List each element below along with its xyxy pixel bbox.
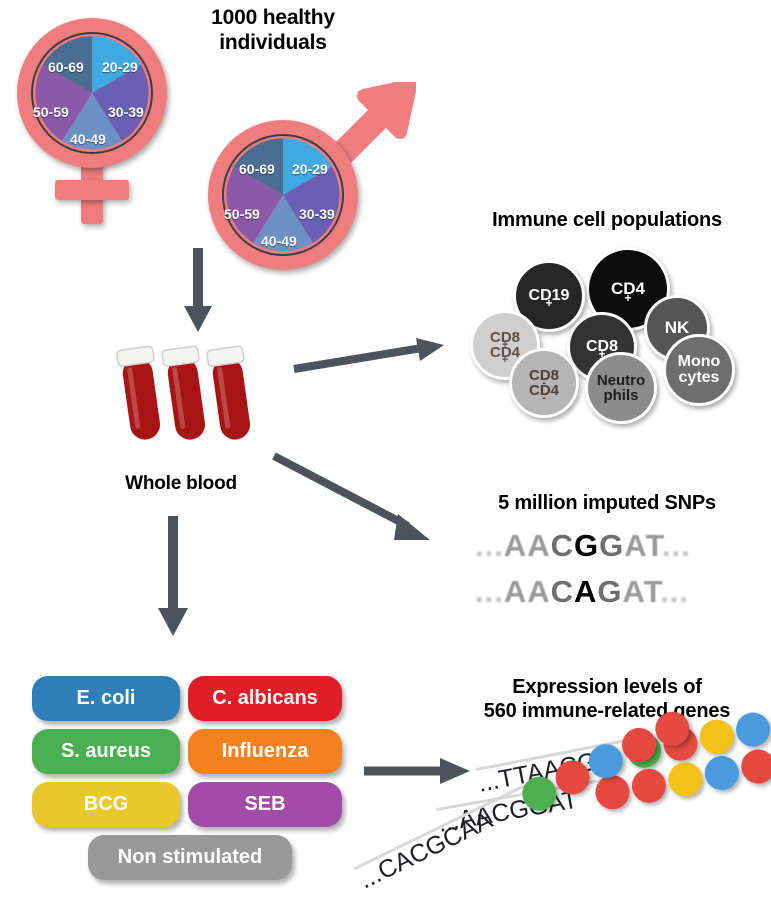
stimulus-pill-e-coli[interactable]: E. coli [32,676,180,721]
immune-cell-label: NK [665,319,690,336]
immune-cell-nk: NK [644,295,710,361]
female-slice-label-20-29: 20-29 [102,59,138,75]
snp-lead-bases: AA [504,574,551,609]
male-gender-symbol: 20-29 30-39 40-49 50-59 60-69 [202,82,422,262]
immune-cell-cd8-cd4: CD8-CD4- [509,348,579,418]
strand-bead [666,760,705,799]
male-slice-label-30-39: 30-39 [299,206,335,222]
gene-strands: ...TTAACGG...AACGGAT...CACGCAA [430,740,771,920]
female-gender-symbol: 20-29 30-39 40-49 50-59 60-69 [8,12,188,227]
snps-title: 5 million imputed SNPs [452,492,762,516]
snp-sequences: ...AACGGAT......AACAGAT... [475,528,745,618]
snp-lead-bases: C [551,528,574,563]
immune-cell-cd8: CD8+ [567,312,637,382]
stimulus-pill-label: S. aureus [61,740,151,763]
snp-tail-bases: G [597,574,622,609]
immune-cell-cd19: CD19+ [513,260,585,332]
snp-prefix-ellipsis: ... [475,574,504,609]
male-slice-label-60-69: 60-69 [239,161,275,177]
female-slice-label-50-59: 50-59 [33,104,69,120]
snp-tail-bases: AT [623,574,661,609]
strand-bead [739,747,771,786]
stimulus-pill-label: Influenza [222,740,309,763]
immune-cell-label: CD8-CD4- [529,368,559,399]
stimulus-pill-label: C. albicans [212,687,318,710]
snp-sequence-row: ...AACGGAT... [475,528,691,564]
stimulus-pill-label: SEB [244,793,285,816]
male-slice-label-40-49: 40-49 [261,233,297,249]
snp-sequence-row: ...AACAGAT... [475,574,689,610]
snp-lead-bases: C [551,574,574,609]
immune-cell-cd8-cd4: CD8+CD4+ [470,310,540,380]
female-slice-label-30-39: 30-39 [108,104,144,120]
snp-lead-bases: AA [504,528,551,563]
snp-variant-base: G [574,528,599,563]
expression-title-line1: Expression levels of [446,676,768,700]
blood-tubes [110,340,260,450]
whole-blood-label: Whole blood [86,473,276,495]
arrow-blood-to-immune [292,338,452,378]
female-slice-label-60-69: 60-69 [48,59,84,75]
stimulus-pill-seb[interactable]: SEB [188,782,342,827]
cohort-title-line2: individuals [178,31,368,56]
immune-cell-neutrophils: Neutrophils [585,352,657,424]
arrow-cohort-to-blood [178,248,218,334]
immune-cell-label: Monocytes [678,354,721,387]
snp-variant-base: A [574,574,597,609]
stimulus-pill-non-stimulated[interactable]: Non stimulated [88,835,292,880]
snp-suffix-ellipsis: ... [660,574,689,609]
snp-tail-bases: AT [624,528,662,563]
arrow-blood-to-stimuli [153,516,193,638]
snp-tail-bases: G [599,528,624,563]
stimulus-pill-label: E. coli [77,687,136,710]
strand-sequence: ...CACGCAA [355,806,498,895]
immune-cell-monocytes: Monocytes [663,334,735,406]
strand-bead [733,710,771,750]
immune-cell-cd4: CD4+ [586,247,670,331]
stimulus-pill-label: BCG [84,793,128,816]
male-slice-label-20-29: 20-29 [292,161,328,177]
stimulus-pill-c-albicans[interactable]: C. albicans [188,676,342,721]
snp-prefix-ellipsis: ... [475,528,504,563]
female-slice-label-40-49: 40-49 [70,131,106,147]
blood-tubes-svg [110,340,260,452]
cohort-title-line1: 1000 healthy [178,6,368,31]
stimulus-pill-label: Non stimulated [118,846,262,869]
snp-suffix-ellipsis: ... [662,528,691,563]
strand-bead [629,766,668,805]
strand-bead [702,753,741,792]
immune-cell-label: Neutrophils [597,373,645,404]
stimulus-pill-s-aureus[interactable]: S. aureus [32,729,180,774]
immune-cell-label: CD19+ [529,288,570,304]
female-symbol-crossbar [55,180,129,200]
arrow-blood-to-snps [272,452,452,552]
immune-cell-label: CD8+ [586,339,618,355]
stimulus-pill-influenza[interactable]: Influenza [188,729,342,774]
immune-cell-label: CD8+CD4+ [490,330,520,361]
stimulus-pill-bcg[interactable]: BCG [32,782,180,827]
male-slice-label-50-59: 50-59 [224,206,260,222]
immune-cell-label: CD4+ [611,280,645,297]
immune-title: Immune cell populations [452,209,762,233]
cohort-title: 1000 healthy individuals [178,6,368,56]
